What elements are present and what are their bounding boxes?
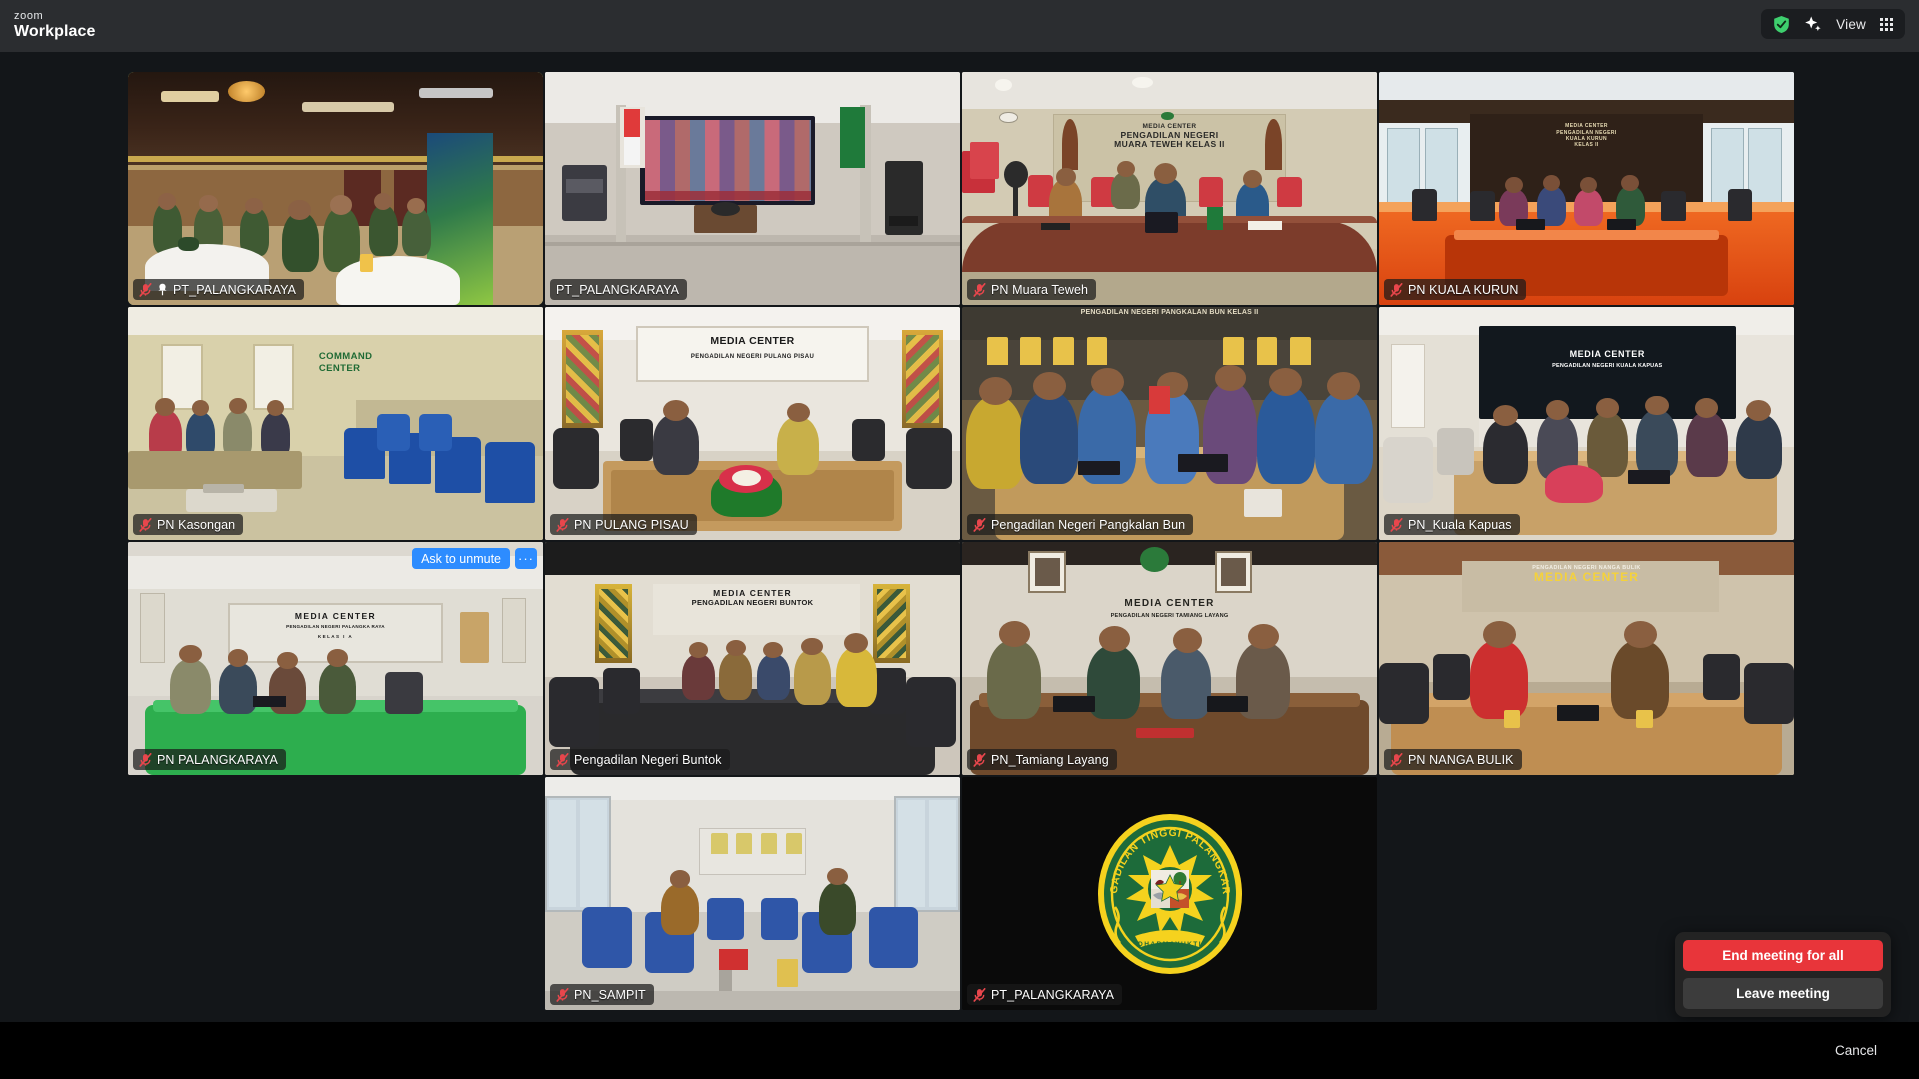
mic-muted-icon	[1390, 283, 1403, 297]
participant-tile[interactable]: MEDIA CENTERPENGADILAN NEGERI PULANG PIS…	[545, 307, 960, 540]
participant-name-badge: PN KUALA KURUN	[1384, 279, 1526, 300]
participant-name: PN NANGA BULIK	[1408, 753, 1514, 767]
participant-name: PN KUALA KURUN	[1408, 283, 1518, 297]
room-sign: MEDIA CENTERPENGADILAN NEGERIMUARA TEWEH…	[1114, 123, 1225, 149]
participant-name: PN_SAMPIT	[574, 988, 646, 1002]
mic-muted-icon	[556, 988, 569, 1002]
zoom-meeting-window: zoom Workplace View	[0, 0, 1919, 1079]
participant-name-badge: PN PULANG PISAU	[550, 514, 697, 535]
end-meeting-for-all-button[interactable]: End meeting for all	[1683, 940, 1883, 971]
participant-name: Pengadilan Negeri Buntok	[574, 753, 722, 767]
participant-name: PT_PALANGKARAYA	[173, 283, 296, 297]
mic-muted-icon	[973, 753, 986, 767]
participant-name-badge: PT_PALANGKARAYA	[967, 984, 1122, 1005]
leave-meeting-menu: End meeting for all Leave meeting	[1675, 932, 1891, 1017]
participant-name: Pengadilan Negeri Pangkalan Bun	[991, 518, 1185, 532]
mic-muted-icon	[556, 753, 569, 767]
court-emblem-icon: PENGADILAN TINGGI PALANGKARAYA	[1095, 811, 1245, 977]
participant-tile[interactable]: PN_SAMPIT	[545, 777, 960, 1010]
participant-name: PN Kasongan	[157, 518, 235, 532]
video-feed: COMMANDCENTER	[128, 307, 543, 540]
participant-tile[interactable]: MEDIA CENTERPENGADILAN NEGERIMUARA TEWEH…	[962, 72, 1377, 305]
participant-name-badge: PN_Tamiang Layang	[967, 749, 1117, 770]
brand-zoom-text: zoom	[14, 11, 96, 23]
participant-tile[interactable]: COMMANDCENTER	[128, 307, 543, 540]
room-sign: PENGADILAN NEGERI NANGA BULIKMEDIA CENTE…	[1532, 565, 1640, 584]
participant-tile[interactable]: MEDIA CENTERPENGADILAN NEGERI BUNTOK	[545, 542, 960, 775]
room-sign: MEDIA CENTERPENGADILAN NEGERIKUALA KURUN…	[1556, 123, 1616, 148]
participant-name: PN Muara Teweh	[991, 283, 1088, 297]
participant-tile[interactable]: PENGADILAN TINGGI PALANGKARAYA	[962, 777, 1377, 1010]
video-feed	[545, 72, 960, 305]
mic-muted-icon	[139, 283, 152, 297]
title-bar: zoom Workplace View	[0, 0, 1919, 52]
video-feed	[545, 777, 960, 1010]
participant-name: PN PALANGKARAYA	[157, 753, 278, 767]
video-feed: MEDIA CENTERPENGADILAN NEGERI TAMIANG LA…	[962, 542, 1377, 775]
participant-tile[interactable]: PT_PALANGKARAYA	[128, 72, 543, 305]
participant-name-badge: PN Kasongan	[133, 514, 243, 535]
video-feed: MEDIA CENTERPENGADILAN NEGERI PULANG PIS…	[545, 307, 960, 540]
room-sign: MEDIA CENTERPENGADILAN NEGERI PULANG PIS…	[691, 335, 814, 362]
participant-tile[interactable]: PENGADILAN NEGERI NANGA BULIKMEDIA CENTE…	[1379, 542, 1794, 775]
participant-name-badge: Pengadilan Negeri Buntok	[550, 749, 730, 770]
video-feed: MEDIA CENTERPENGADILAN NEGERI BUNTOK	[545, 542, 960, 775]
more-options-button[interactable]: ···	[515, 548, 537, 569]
room-sign: PENGADILAN NEGERI PANGKALAN BUN KELAS II	[1081, 309, 1259, 317]
ask-to-unmute-button[interactable]: Ask to unmute	[412, 548, 510, 569]
zoom-workplace-logo: zoom Workplace	[0, 11, 96, 40]
participant-name-badge: PN Muara Teweh	[967, 279, 1096, 300]
participant-name-badge: Pengadilan Negeri Pangkalan Bun	[967, 514, 1193, 535]
pin-icon	[157, 283, 168, 296]
participant-name: PN_Tamiang Layang	[991, 753, 1109, 767]
video-feed: MEDIA CENTERPENGADILAN NEGERIKUALA KURUN…	[1379, 72, 1794, 305]
mic-muted-icon	[973, 518, 986, 532]
room-sign: MEDIA CENTERPENGADILAN NEGERI PALANGKA R…	[286, 612, 385, 641]
video-feed	[128, 72, 543, 305]
participant-name: PN PULANG PISAU	[574, 518, 689, 532]
mic-muted-icon	[973, 283, 986, 297]
room-sign: MEDIA CENTERPENGADILAN NEGERI KUALA KAPU…	[1552, 349, 1662, 369]
room-sign: MEDIA CENTERPENGADILAN NEGERI BUNTOK	[692, 589, 814, 608]
ai-sparkle-icon[interactable]	[1804, 15, 1822, 33]
participant-name: PN_Kuala Kapuas	[1408, 518, 1512, 532]
participant-tile[interactable]: PT_PALANGKARAYA	[545, 72, 960, 305]
video-feed: PENGADILAN NEGERI NANGA BULIKMEDIA CENTE…	[1379, 542, 1794, 775]
mic-muted-icon	[556, 518, 569, 532]
video-feed: MEDIA CENTERPENGADILAN NEGERIMUARA TEWEH…	[962, 72, 1377, 305]
mic-muted-icon	[973, 988, 986, 1002]
tile-hover-controls[interactable]: Ask to unmute ···	[412, 548, 537, 569]
room-sign: MEDIA CENTERPENGADILAN NEGERI TAMIANG LA…	[1111, 598, 1229, 620]
mic-muted-icon	[139, 753, 152, 767]
video-feed: MEDIA CENTERPENGADILAN NEGERI PALANGKA R…	[128, 542, 543, 775]
grid-layout-icon[interactable]	[1880, 18, 1893, 31]
brand-workplace-text: Workplace	[14, 24, 96, 41]
mic-muted-icon	[1390, 753, 1403, 767]
participant-tile[interactable]: MEDIA CENTERPENGADILAN NEGERI TAMIANG LA…	[962, 542, 1377, 775]
view-button[interactable]: View	[1836, 17, 1866, 32]
mic-muted-icon	[139, 518, 152, 532]
mic-muted-icon	[1390, 518, 1403, 532]
room-sign: COMMANDCENTER	[319, 351, 372, 374]
participant-tile[interactable]: MEDIA CENTERPENGADILAN NEGERI KUALA KAPU…	[1379, 307, 1794, 540]
cancel-button[interactable]: Cancel	[1835, 1043, 1877, 1058]
participant-name-badge: PT_PALANGKARAYA	[133, 279, 304, 300]
participant-name-badge: PN_Kuala Kapuas	[1384, 514, 1520, 535]
participant-name: PT_PALANGKARAYA	[991, 988, 1114, 1002]
video-feed: MEDIA CENTERPENGADILAN NEGERI KUALA KAPU…	[1379, 307, 1794, 540]
titlebar-controls: View	[1761, 9, 1905, 39]
participant-name-badge: PN_SAMPIT	[550, 984, 654, 1005]
participant-name: PT_PALANGKARAYA	[556, 283, 679, 297]
participant-tile[interactable]: MEDIA CENTERPENGADILAN NEGERIKUALA KURUN…	[1379, 72, 1794, 305]
video-gallery: PT_PALANGKARAYA	[0, 52, 1919, 1022]
participant-name-badge: PN PALANGKARAYA	[133, 749, 286, 770]
video-feed: PENGADILAN NEGERI PANGKALAN BUN KELAS II	[962, 307, 1377, 540]
svg-text:DHARMAYUKTI: DHARMAYUKTI	[1138, 941, 1202, 948]
participant-tile[interactable]: MEDIA CENTERPENGADILAN NEGERI PALANGKA R…	[128, 542, 543, 775]
participant-name-badge: PN NANGA BULIK	[1384, 749, 1522, 770]
shield-check-icon[interactable]	[1773, 15, 1790, 34]
participant-tile[interactable]: PENGADILAN NEGERI PANGKALAN BUN KELAS II	[962, 307, 1377, 540]
participant-name-badge: PT_PALANGKARAYA	[550, 279, 687, 300]
bottom-toolbar: Cancel	[0, 1022, 1919, 1079]
leave-meeting-button[interactable]: Leave meeting	[1683, 978, 1883, 1009]
